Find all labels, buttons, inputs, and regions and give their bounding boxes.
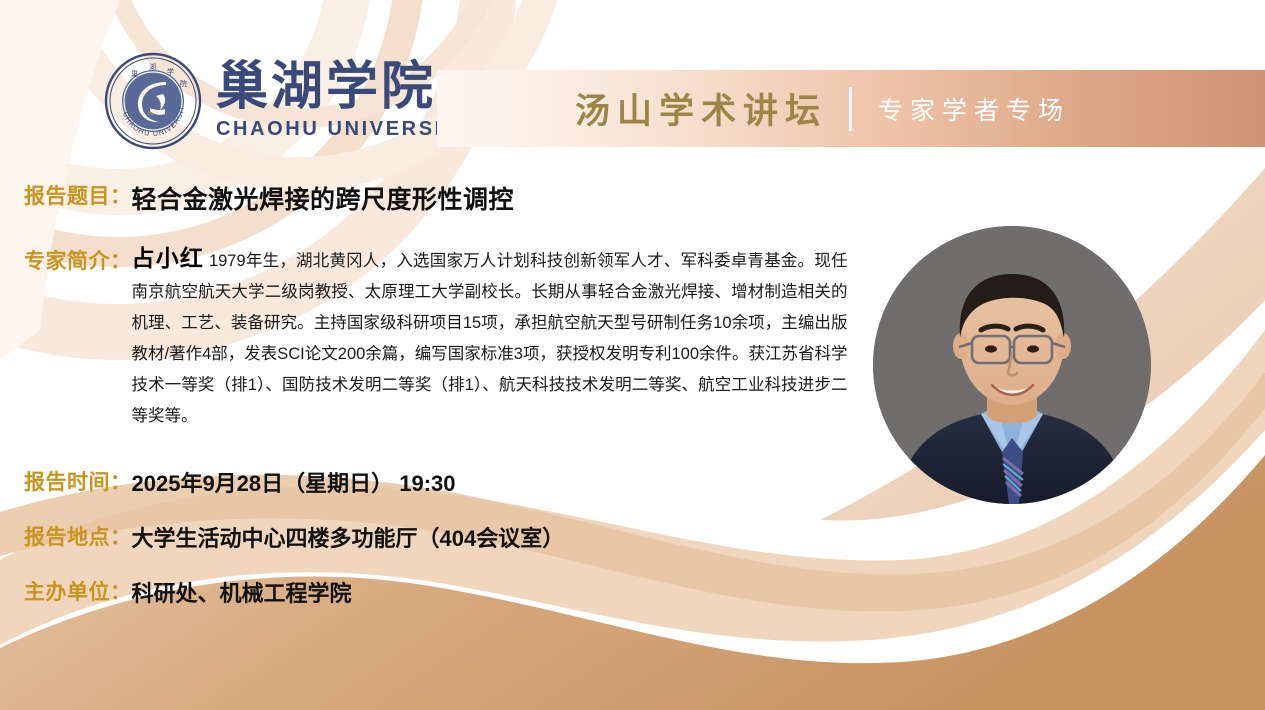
title-label: 报告题目： xyxy=(24,180,132,210)
field-row-time: 报告时间： 2025年9月28日（星期日） 19:30 xyxy=(24,466,456,498)
field-row-bio: 专家简介： 占小红 1979年生，湖北黄冈人，入选国家万人计划科技创新领军人才、… xyxy=(24,243,884,432)
poster-root: 1977 CHAOHU UNIVERSITY 巢湖 学院 巢湖学院 CHAOHU… xyxy=(0,0,1265,710)
place-label: 报告地点： xyxy=(24,521,132,551)
bio-body: 占小红 1979年生，湖北黄冈人，入选国家万人计划科技创新领军人才、军科委卓青基… xyxy=(132,243,848,432)
field-row-title: 报告题目： 轻合金激光焊接的跨尺度形性调控 xyxy=(24,180,514,216)
place-value: 大学生活动中心四楼多功能厅（404会议室） xyxy=(132,521,565,553)
time-value: 2025年9月28日（星期日） 19:30 xyxy=(132,466,456,498)
bio-label: 专家简介： xyxy=(24,243,132,275)
time-label: 报告时间： xyxy=(24,466,132,496)
bio-text: 1979年生，湖北黄冈人，入选国家万人计划科技创新领军人才、军科委卓青基金。现任… xyxy=(132,252,848,425)
field-row-host: 主办单位： 科研处、机械工程学院 xyxy=(24,576,352,608)
speaker-portrait xyxy=(873,226,1151,504)
speaker-name: 占小红 xyxy=(132,245,205,271)
field-row-place: 报告地点： 大学生活动中心四楼多功能厅（404会议室） xyxy=(24,521,564,553)
host-label: 主办单位： xyxy=(24,576,132,606)
title-value: 轻合金激光焊接的跨尺度形性调控 xyxy=(132,180,515,216)
host-value: 科研处、机械工程学院 xyxy=(132,576,352,608)
